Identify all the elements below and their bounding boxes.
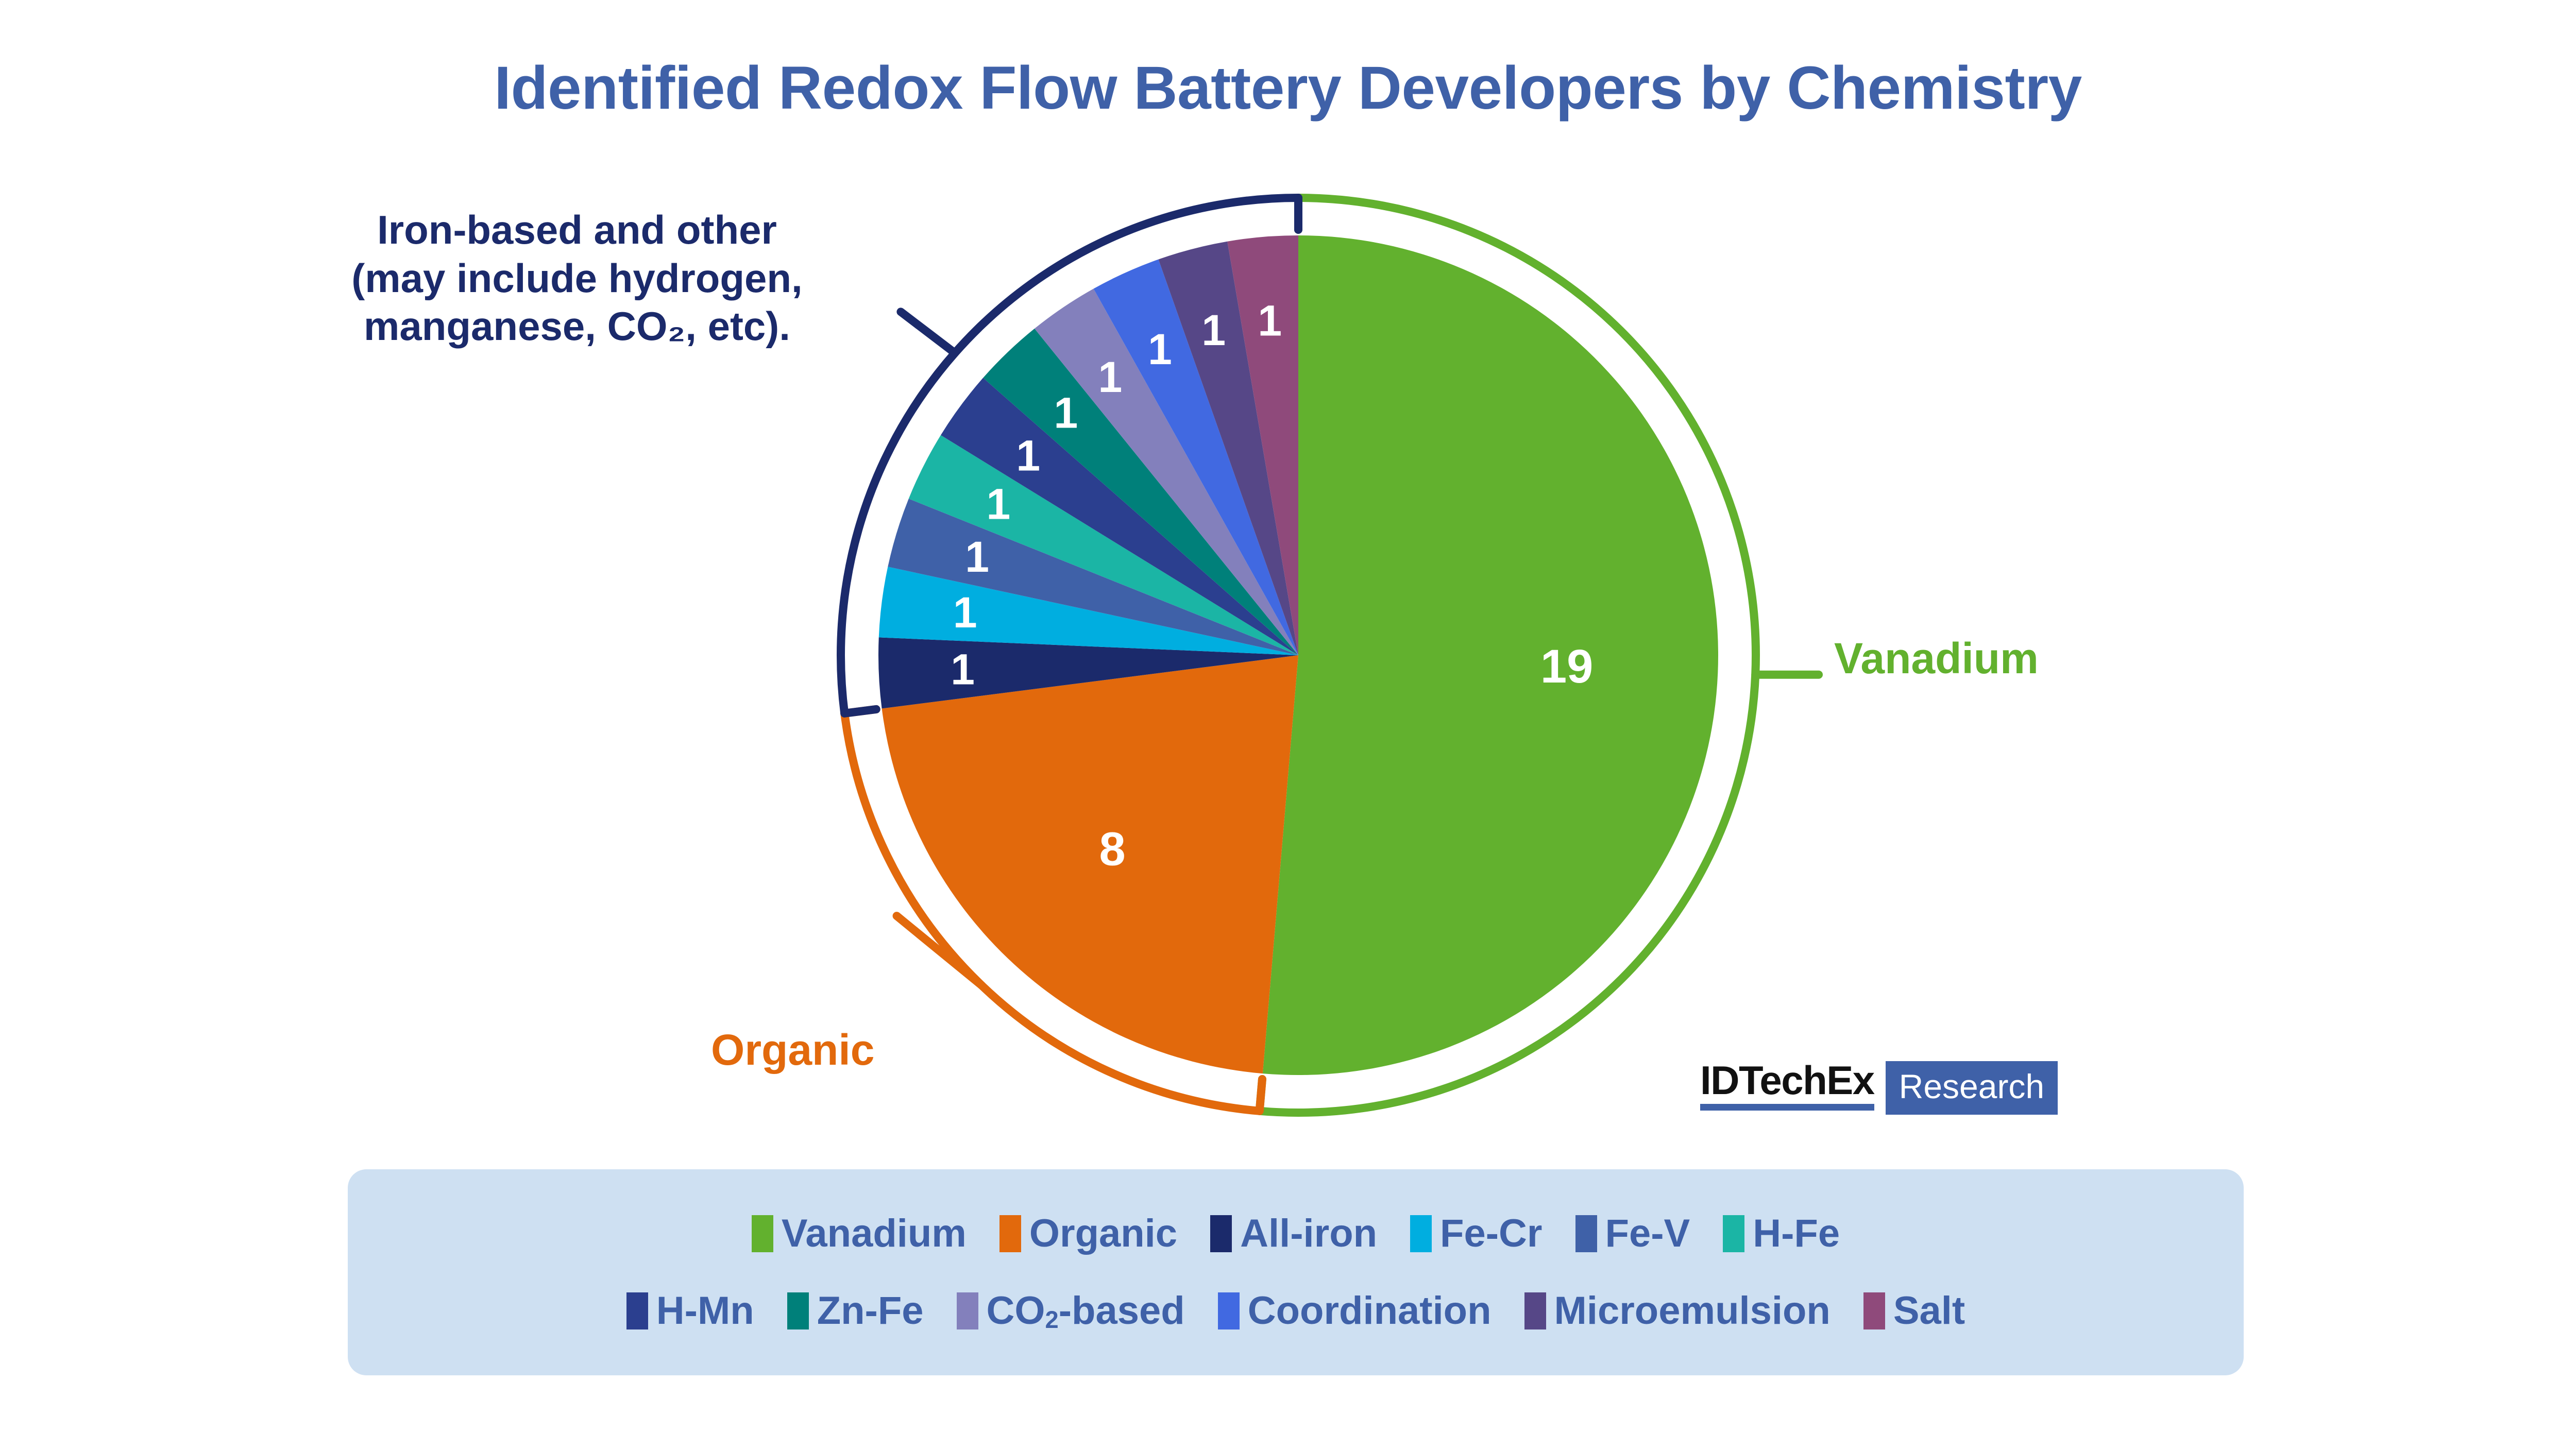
legend-item-label: Organic — [1029, 1214, 1177, 1253]
pie-value-label: 1 — [1016, 431, 1040, 480]
pie-slice-microemulsion[interactable] — [1158, 242, 1298, 655]
legend-item-label: Zn-Fe — [817, 1291, 924, 1331]
pie-slice-fe-cr[interactable] — [879, 567, 1298, 655]
legend-item-coordination[interactable]: Coordination — [1218, 1291, 1492, 1331]
legend-swatch-icon — [1210, 1215, 1232, 1252]
legend-item-fe-cr[interactable]: Fe-Cr — [1410, 1214, 1542, 1253]
annotation-line-3: manganese, CO₂, etc). — [247, 302, 907, 351]
legend-item-label: All-iron — [1240, 1214, 1377, 1253]
page-title: Identified Redox Flow Battery Developers… — [0, 57, 2576, 121]
legend-item-fe-v[interactable]: Fe-V — [1575, 1214, 1690, 1253]
legend-item-label: Fe-V — [1605, 1214, 1690, 1253]
pie-value-label: 1 — [953, 588, 977, 637]
legend-row-1: VanadiumOrganicAll-ironFe-CrFe-VH-Fe — [348, 1195, 2244, 1272]
legend-swatch-icon — [752, 1215, 773, 1252]
legend-item-salt[interactable]: Salt — [1863, 1291, 1965, 1331]
pie-value-label: 1 — [1098, 353, 1123, 401]
iron-based-annotation: Iron-based and other (may include hydrog… — [247, 206, 907, 351]
chart-canvas: Identified Redox Flow Battery Developers… — [0, 0, 2576, 1449]
pie-slice-zn-fe[interactable] — [983, 329, 1298, 655]
idtechex-research-badge: Research — [1886, 1061, 2058, 1115]
pie-value-label: 19 — [1540, 640, 1593, 693]
legend-item-h-mn[interactable]: H-Mn — [626, 1291, 754, 1331]
idtechex-underline — [1700, 1104, 1874, 1111]
pie-value-label: 1 — [1201, 306, 1226, 354]
pie-slice-co-based[interactable] — [1035, 288, 1298, 655]
pie-slice-organic[interactable] — [882, 655, 1298, 1073]
legend-swatch-icon — [787, 1292, 809, 1329]
idtechex-wordmark-text: IDTechEx — [1700, 1061, 1874, 1100]
legend-item-label: Coordination — [1248, 1291, 1492, 1331]
callout-leader-organic — [897, 916, 982, 985]
pie-value-label-group: 1981111111111 — [951, 296, 1593, 875]
callout-label-organic: Organic — [711, 1025, 874, 1075]
pie-value-label: 1 — [1258, 296, 1282, 345]
legend-item-organic[interactable]: Organic — [999, 1214, 1177, 1253]
legend-item-all-iron[interactable]: All-iron — [1210, 1214, 1377, 1253]
legend-item-h-fe[interactable]: H-Fe — [1723, 1214, 1840, 1253]
legend-swatch-icon — [1723, 1215, 1744, 1252]
legend-item-label: Fe-Cr — [1440, 1214, 1542, 1253]
pie-slice-h-mn[interactable] — [941, 378, 1298, 655]
legend-item-co2-based[interactable]: CO2-based — [957, 1291, 1185, 1331]
pie-slice-h-fe[interactable] — [909, 435, 1298, 655]
callout-leader-iron-based — [901, 312, 955, 353]
callout-bracket-vanadium — [1260, 198, 1756, 1113]
legend-item-label: CO2-based — [987, 1291, 1185, 1331]
legend-swatch-icon — [1575, 1215, 1597, 1252]
pie-value-label: 1 — [951, 645, 975, 694]
pie-slice-all-iron[interactable] — [878, 637, 1298, 708]
legend-swatch-icon — [1863, 1292, 1885, 1329]
legend-swatch-icon — [626, 1292, 648, 1329]
pie-slice-fe-v[interactable] — [888, 499, 1298, 655]
pie-slice-vanadium[interactable] — [1263, 235, 1718, 1075]
legend-swatch-icon — [1218, 1292, 1240, 1329]
legend-swatch-icon — [1410, 1215, 1432, 1252]
pie-slice-coordination[interactable] — [1094, 260, 1298, 655]
legend-item-label: H-Mn — [656, 1291, 754, 1331]
legend-swatch-icon — [957, 1292, 978, 1329]
pie-value-label: 1 — [1148, 325, 1172, 373]
legend: VanadiumOrganicAll-ironFe-CrFe-VH-Fe H-M… — [348, 1169, 2244, 1375]
pie-value-label: 1 — [1054, 388, 1078, 437]
callout-bracket-iron-based — [841, 198, 1298, 713]
legend-item-zn-fe[interactable]: Zn-Fe — [787, 1291, 924, 1331]
legend-swatch-icon — [1524, 1292, 1546, 1329]
callout-bracket-organic — [844, 709, 1262, 1111]
pie-value-label: 1 — [986, 480, 1010, 528]
pie-value-label: 1 — [965, 533, 989, 581]
callout-label-vanadium: Vanadium — [1834, 634, 2039, 684]
legend-row-2: H-MnZn-FeCO2-basedCoordinationMicroemuls… — [348, 1272, 2244, 1350]
annotation-line-1: Iron-based and other — [247, 206, 907, 254]
legend-item-label: Microemulsion — [1554, 1291, 1831, 1331]
legend-item-microemulsion[interactable]: Microemulsion — [1524, 1291, 1831, 1331]
legend-item-label: Salt — [1893, 1291, 1965, 1331]
pie-slice-group — [878, 235, 1718, 1075]
annotation-line-2: (may include hydrogen, — [247, 254, 907, 303]
pie-value-label: 8 — [1099, 823, 1125, 876]
idtechex-wordmark: IDTechEx — [1700, 1061, 1886, 1117]
legend-swatch-icon — [999, 1215, 1021, 1252]
idtechex-logo: IDTechEx Research — [1700, 1061, 2058, 1117]
pie-slice-salt[interactable] — [1227, 235, 1298, 655]
callout-bracket-group — [841, 198, 1819, 1113]
legend-item-vanadium[interactable]: Vanadium — [752, 1214, 967, 1253]
legend-item-label: H-Fe — [1753, 1214, 1840, 1253]
legend-item-label: Vanadium — [782, 1214, 967, 1253]
